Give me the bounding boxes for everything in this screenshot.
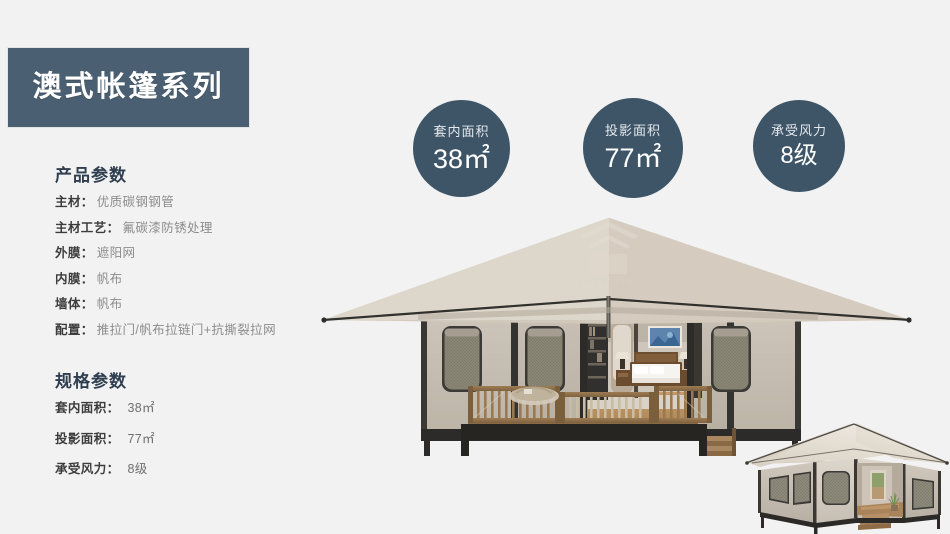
param-value: 帆布 bbox=[97, 298, 123, 311]
param-value: 氟碳漆防锈处理 bbox=[123, 222, 213, 235]
param-label: 外膜： bbox=[55, 247, 94, 260]
spec-row-wind-resistance: 承受风力： 8级 bbox=[55, 463, 355, 476]
spec-label: 套内面积： bbox=[55, 402, 120, 415]
param-row-main-material: 主材： 优质碳钢钢管 bbox=[55, 196, 355, 209]
param-row-configuration: 配置： 推拉门/帆布拉链门+抗撕裂拉网 bbox=[55, 324, 355, 337]
param-label: 配置： bbox=[55, 324, 94, 337]
secondary-tent-illustration bbox=[744, 418, 950, 534]
slide-canvas: 澳式帐篷系列 产品参数 主材： 优质碳钢钢管 主材工艺： 氟碳漆防锈处理 外膜：… bbox=[0, 0, 950, 534]
product-parameters-heading: 产品参数 bbox=[55, 166, 355, 186]
specification-parameters-heading: 规格参数 bbox=[55, 372, 355, 392]
specification-parameters-section: 规格参数 套内面积： 38㎡ 投影面积： 77㎡ 承受风力： 8级 bbox=[55, 372, 355, 494]
param-row-outer-membrane: 外膜： 遮阳网 bbox=[55, 247, 355, 260]
badge-interior-area: 套内面积 38㎡ bbox=[413, 100, 510, 197]
badge-label: 投影面积 bbox=[605, 124, 661, 137]
badge-value: 8级 bbox=[780, 144, 817, 168]
badge-projected-area: 投影面积 77㎡ bbox=[583, 98, 683, 198]
param-label: 主材： bbox=[55, 196, 94, 209]
spec-label: 投影面积： bbox=[55, 433, 120, 446]
watermark-text: XIPENGTENT bbox=[577, 278, 641, 286]
spec-value: 8级 bbox=[128, 463, 148, 476]
product-parameters-section: 产品参数 主材： 优质碳钢钢管 主材工艺： 氟碳漆防锈处理 外膜： 遮阳网 内膜… bbox=[55, 166, 355, 349]
spec-value: 38㎡ bbox=[128, 402, 155, 415]
spec-row-interior-area: 套内面积： 38㎡ bbox=[55, 402, 355, 415]
badge-label: 承受风力 bbox=[771, 124, 827, 137]
param-value: 遮阳网 bbox=[97, 247, 136, 260]
param-row-main-material-process: 主材工艺： 氟碳漆防锈处理 bbox=[55, 222, 355, 235]
param-label: 内膜： bbox=[55, 273, 94, 286]
title-banner: 澳式帐篷系列 bbox=[7, 47, 250, 128]
badge-wind-resistance: 承受风力 8级 bbox=[753, 100, 845, 192]
spec-label: 承受风力： bbox=[55, 463, 120, 476]
param-value: 优质碳钢钢管 bbox=[97, 196, 174, 209]
badge-value: 38㎡ bbox=[433, 146, 490, 173]
param-value: 推拉门/帆布拉链门+抗撕裂拉网 bbox=[97, 324, 276, 337]
title-banner-text: 澳式帐篷系列 bbox=[32, 73, 224, 102]
badge-label: 套内面积 bbox=[433, 125, 489, 138]
param-label: 主材工艺： bbox=[55, 222, 120, 235]
spec-row-projected-area: 投影面积： 77㎡ bbox=[55, 433, 355, 446]
param-row-inner-membrane: 内膜： 帆布 bbox=[55, 273, 355, 286]
param-value: 帆布 bbox=[97, 273, 123, 286]
param-label: 墙体： bbox=[55, 298, 94, 311]
param-row-wall: 墙体： 帆布 bbox=[55, 298, 355, 311]
main-tent-illustration: XIPENGTENT bbox=[318, 196, 950, 456]
spec-value: 77㎡ bbox=[128, 433, 155, 446]
badge-value: 77㎡ bbox=[604, 145, 661, 172]
